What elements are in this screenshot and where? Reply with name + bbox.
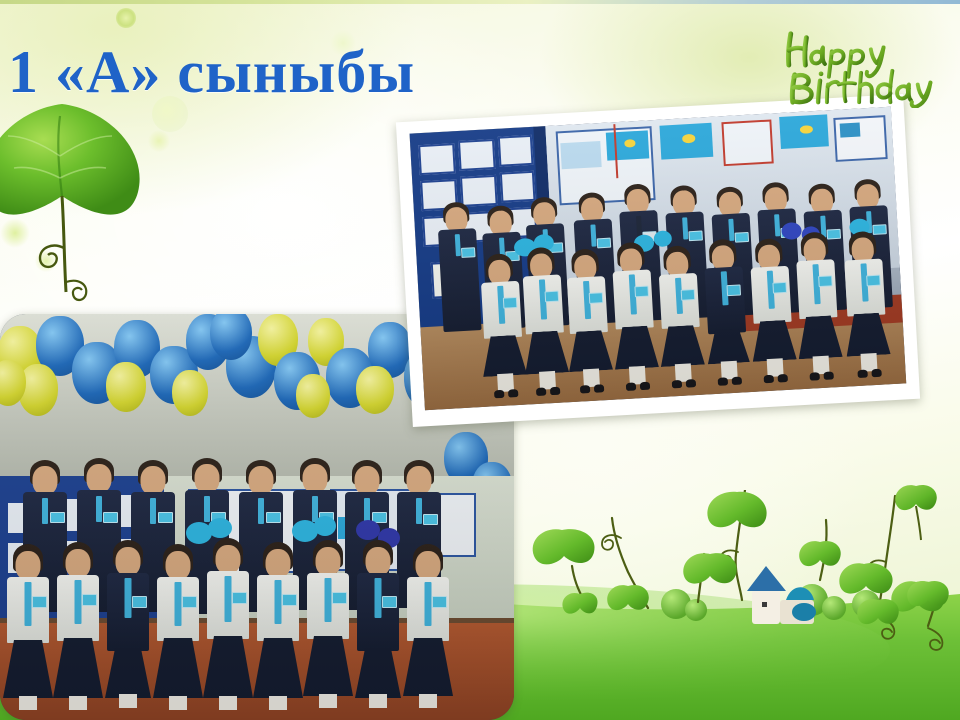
photo-top-right-image	[410, 107, 907, 410]
page-title: 1 «А» сыныбы	[8, 38, 415, 107]
presentation-slide: 1 «А» сыныбы	[0, 0, 960, 720]
photo-top-right[interactable]	[396, 94, 920, 427]
happy-birthday-graphic	[780, 24, 948, 108]
bokeh-dot	[116, 8, 136, 28]
ivy-leaf-large-icon	[0, 96, 194, 326]
top-accent-bar	[0, 0, 960, 4]
